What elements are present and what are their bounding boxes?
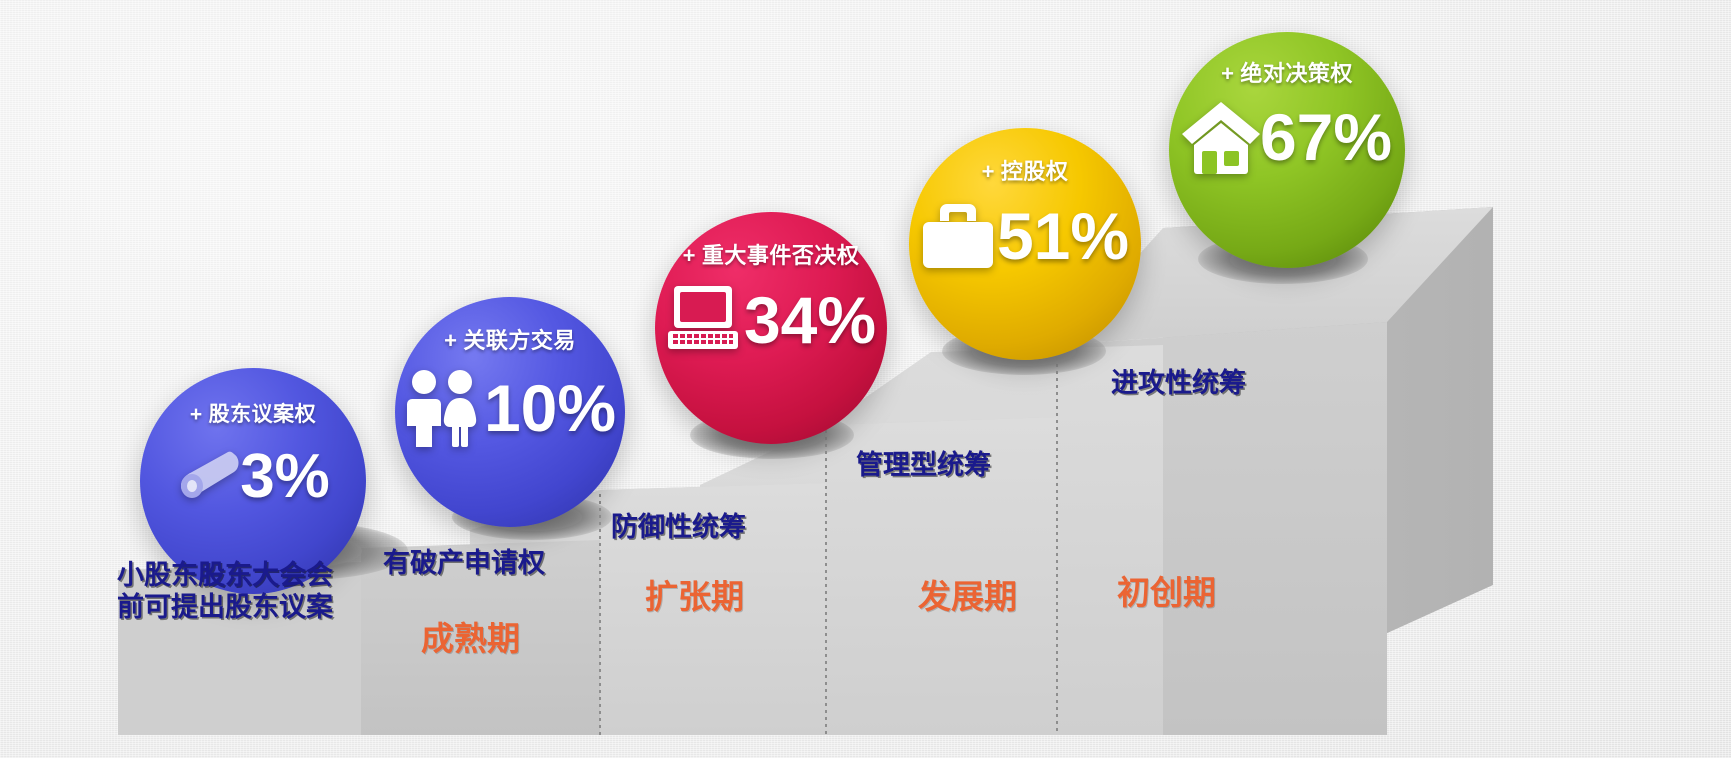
step-5-stage-label: 初创期 xyxy=(1117,574,1216,613)
bubble-34-caption: +重大事件否决权 xyxy=(683,238,860,270)
plus-icon: + xyxy=(1221,61,1234,86)
step-2-stage-label: 成熟期 xyxy=(421,620,520,659)
bubble-34[interactable]: +重大事件否决权 xyxy=(655,212,887,444)
bubble-3-percent: 3% xyxy=(240,446,330,508)
plus-icon: + xyxy=(190,403,203,426)
bubble-67[interactable]: +绝对决策权 67% xyxy=(1169,32,1405,268)
laptop-icon xyxy=(666,284,742,356)
bubble-10[interactable]: +关联方交易 10% xyxy=(395,297,625,527)
infographic-canvas: +股东议案权 3% +关联方交易 xyxy=(0,0,1731,758)
step-3-right-label: 防御性统筹 xyxy=(611,512,746,544)
bubble-67-percent: 67% xyxy=(1260,104,1392,170)
people-icon xyxy=(404,369,480,447)
step-4-stage-label: 发展期 xyxy=(918,578,1017,617)
plus-icon: + xyxy=(444,328,457,353)
bubble-51-caption: +控股权 xyxy=(982,154,1069,186)
megaphone-icon xyxy=(176,446,246,508)
plus-icon: + xyxy=(683,243,696,268)
step-5-right-label: 进攻性统筹 xyxy=(1111,368,1246,400)
bubble-10-caption: +关联方交易 xyxy=(444,323,576,355)
bubble-51[interactable]: +控股权 51% xyxy=(909,128,1141,360)
bubble-10-percent: 10% xyxy=(484,375,616,441)
briefcase-icon xyxy=(921,200,995,272)
bubble-34-percent: 34% xyxy=(744,287,876,353)
bubble-3-caption: +股东议案权 xyxy=(190,398,316,428)
step-2-right-label: 有破产申请权 xyxy=(383,548,545,580)
plus-icon: + xyxy=(982,159,995,184)
house-icon xyxy=(1182,100,1262,174)
bubble-51-percent: 51% xyxy=(997,203,1129,269)
step-3-stage-label: 扩张期 xyxy=(645,578,744,617)
step-4-right-label: 管理型统筹 xyxy=(856,450,991,482)
bubble-67-caption: +绝对决策权 xyxy=(1221,56,1353,88)
step-1-right-label: 小股东股东大会会 前可提出股东议案 xyxy=(117,560,333,624)
